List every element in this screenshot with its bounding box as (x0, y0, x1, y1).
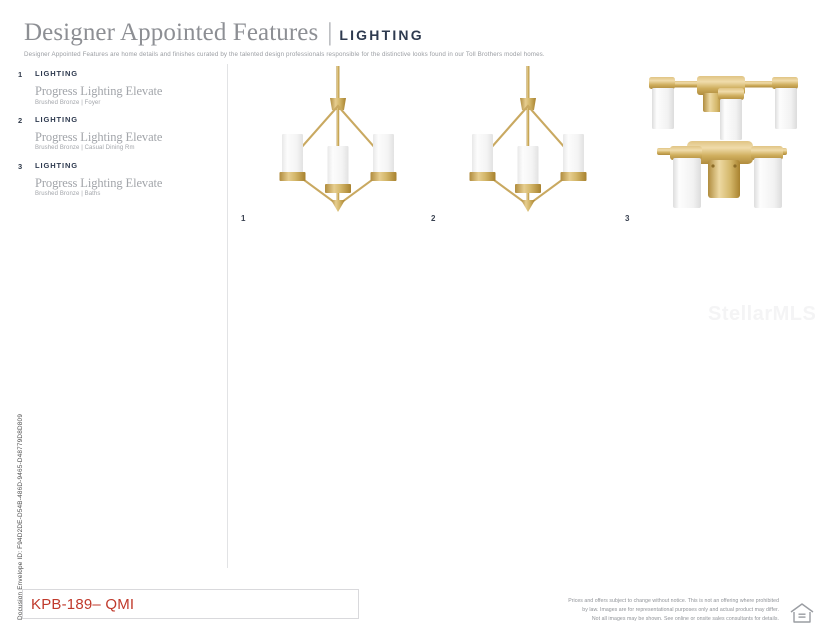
feature-category: LIGHTING (35, 162, 213, 170)
feature-number: 1 (18, 70, 31, 79)
list-item: 3 LIGHTING Progress Lighting Elevate Bru… (18, 162, 213, 199)
feature-detail: Brushed Bronze | Foyer (35, 100, 213, 107)
product-image-1 (258, 62, 418, 217)
feature-category: LIGHTING (35, 116, 213, 124)
page-title: Designer Appointed Features (24, 20, 318, 45)
chandelier-icon (258, 62, 418, 217)
disclaimer-line-3: Not all images may be shown. See online … (517, 615, 779, 624)
plan-code-text: KPB-189– QMI (31, 596, 134, 613)
product-image-3 (635, 62, 815, 217)
feature-product-name: Progress Lighting Elevate (35, 130, 213, 144)
chandelier-icon (448, 62, 608, 217)
disclaimer-line-1: Prices and offers subject to change with… (517, 597, 779, 606)
page-category-label: LIGHTING (339, 28, 423, 42)
equal-housing-opportunity-icon (787, 599, 817, 627)
docusign-envelope-id: Docusign Envelope ID: F94D2DE-D54B-486D-… (17, 345, 24, 620)
figure-caption-3: 3 (625, 214, 629, 223)
vanity-light-icon (635, 62, 815, 217)
feature-product-name: Progress Lighting Elevate (35, 176, 213, 190)
disclaimer-line-2: by law. Images are for representational … (517, 606, 779, 615)
feature-number: 3 (18, 162, 31, 171)
feature-product-name: Progress Lighting Elevate (35, 84, 213, 98)
title-row: Designer Appointed Features | LIGHTING (24, 20, 724, 45)
feature-category: LIGHTING (35, 70, 213, 78)
figure-caption-2: 2 (431, 214, 435, 223)
list-item: 1 LIGHTING Progress Lighting Elevate Bru… (18, 70, 213, 107)
house-icon (787, 599, 817, 627)
feature-list: 1 LIGHTING Progress Lighting Elevate Bru… (18, 70, 213, 207)
page-subtitle: Designer Appointed Features are home det… (24, 51, 724, 58)
page-header: Designer Appointed Features | LIGHTING D… (24, 20, 724, 58)
feature-body: LIGHTING Progress Lighting Elevate Brush… (35, 116, 213, 153)
feature-body: LIGHTING Progress Lighting Elevate Brush… (35, 162, 213, 199)
figure-caption-1: 1 (241, 214, 245, 223)
designer-appointed-features-page: Designer Appointed Features | LIGHTING D… (0, 0, 825, 636)
feature-detail: Brushed Bronze | Casual Dining Rm (35, 145, 213, 152)
stellarmls-watermark: StellarMLS (708, 303, 816, 326)
feature-body: LIGHTING Progress Lighting Elevate Brush… (35, 70, 213, 107)
product-image-2 (448, 62, 608, 217)
title-separator: | (327, 20, 332, 45)
plan-code-field[interactable]: KPB-189– QMI (22, 589, 359, 619)
feature-number: 2 (18, 116, 31, 125)
legal-disclaimer: Prices and offers subject to change with… (517, 597, 779, 624)
content-divider (227, 64, 228, 568)
feature-detail: Brushed Bronze | Baths (35, 191, 213, 198)
list-item: 2 LIGHTING Progress Lighting Elevate Bru… (18, 116, 213, 153)
